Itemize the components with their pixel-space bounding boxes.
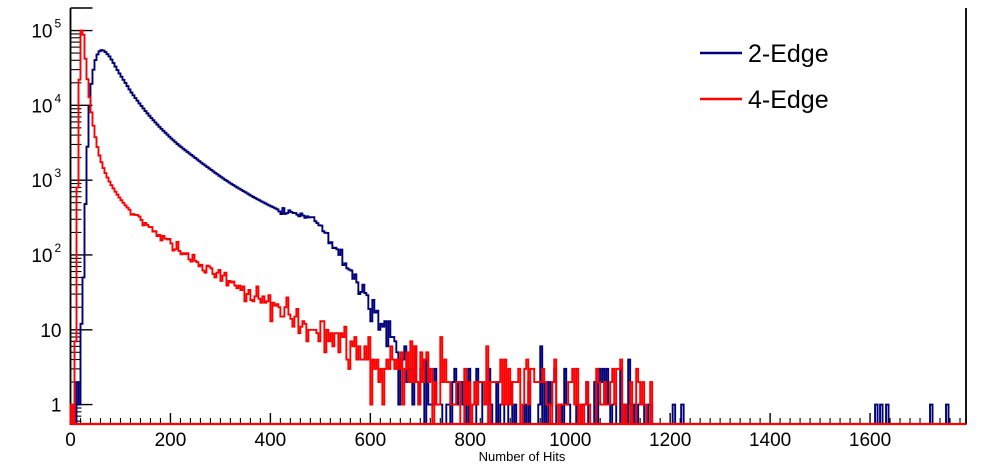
svg-text:3: 3	[55, 166, 62, 180]
x-tick-label: 400	[255, 430, 287, 451]
x-tick-label: 0	[65, 430, 76, 451]
svg-text:5: 5	[55, 17, 62, 31]
chart-canvas: 02004006008001000120014001600 1101021031…	[0, 0, 996, 472]
x-tick-label: 600	[354, 430, 386, 451]
y-tick-label: 1	[51, 396, 62, 417]
svg-text:10: 10	[31, 22, 52, 43]
svg-text:10: 10	[31, 171, 52, 192]
x-tick-label: 1600	[849, 430, 891, 451]
x-tick-label: 1400	[749, 430, 791, 451]
svg-text:10: 10	[31, 246, 52, 267]
x-tick-label: 1000	[549, 430, 591, 451]
svg-text:10: 10	[40, 321, 61, 342]
svg-text:4: 4	[55, 91, 62, 105]
x-tick-label: 200	[155, 430, 187, 451]
x-tick-label: 800	[454, 430, 486, 451]
x-tick-label: 1200	[649, 430, 691, 451]
y-tick-label: 10	[40, 321, 61, 342]
svg-text:1: 1	[51, 396, 62, 417]
x-axis-title: Number of Hits	[479, 449, 566, 464]
histogram-plot: 02004006008001000120014001600 1101021031…	[0, 0, 996, 472]
svg-text:10: 10	[31, 96, 52, 117]
svg-text:2: 2	[55, 241, 62, 255]
legend-label: 2-Edge	[748, 40, 829, 68]
legend-label: 4-Edge	[748, 86, 829, 114]
